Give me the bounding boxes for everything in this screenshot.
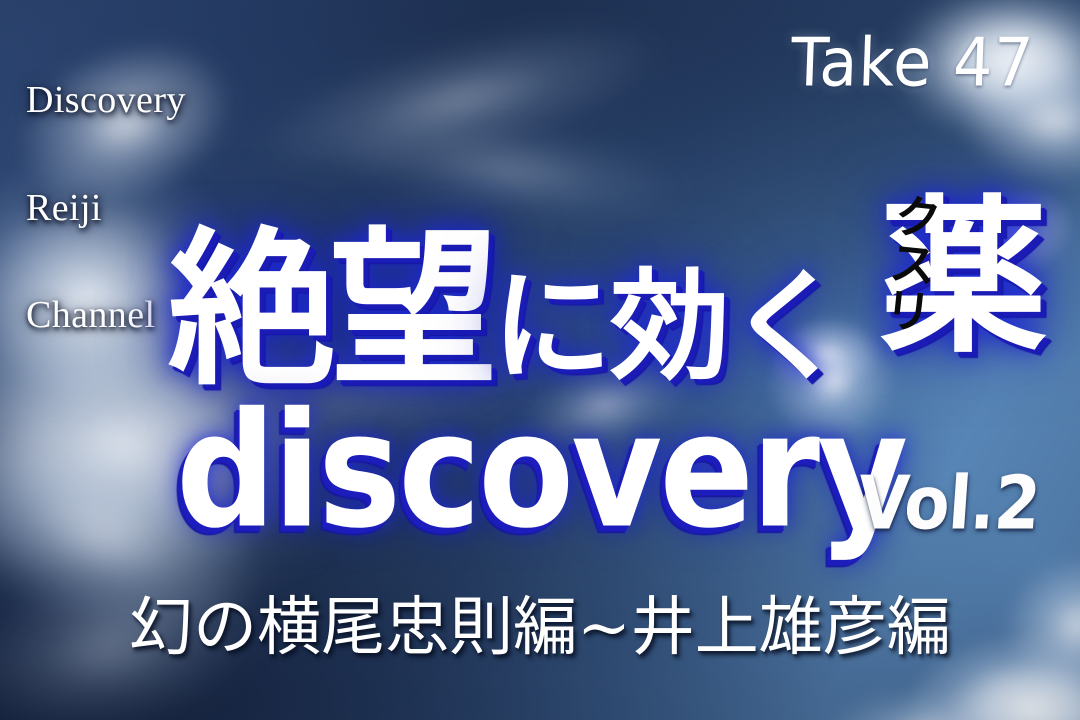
subtitle-text: 幻の横尾忠則編~井上雄彦編 [129,596,951,660]
headline-part-zetsubou: 絶望 [168,226,492,394]
take-number-label: Take 47 [790,23,1036,102]
headline-part-nikiku: に効く [492,268,846,394]
volume-label: Vol.2 [855,460,1042,546]
discovery-wordmark: discovery [176,392,905,551]
headline-kusuri-ruby: クスリ [877,190,938,335]
channel-logo-line-1: Discovery [26,83,186,119]
channel-logo: Discovery Reiji Channel [26,12,186,405]
thumbnail-canvas: Discovery Reiji Channel Take 47 絶望 に効く 薬… [0,0,1080,720]
main-headline: 絶望 に効く 薬 クスリ [168,178,1041,394]
channel-logo-line-2: Reiji [26,191,186,227]
channel-logo-line-3: Channel [26,298,186,334]
headline-kusuri-group: 薬 クスリ [846,178,1041,394]
